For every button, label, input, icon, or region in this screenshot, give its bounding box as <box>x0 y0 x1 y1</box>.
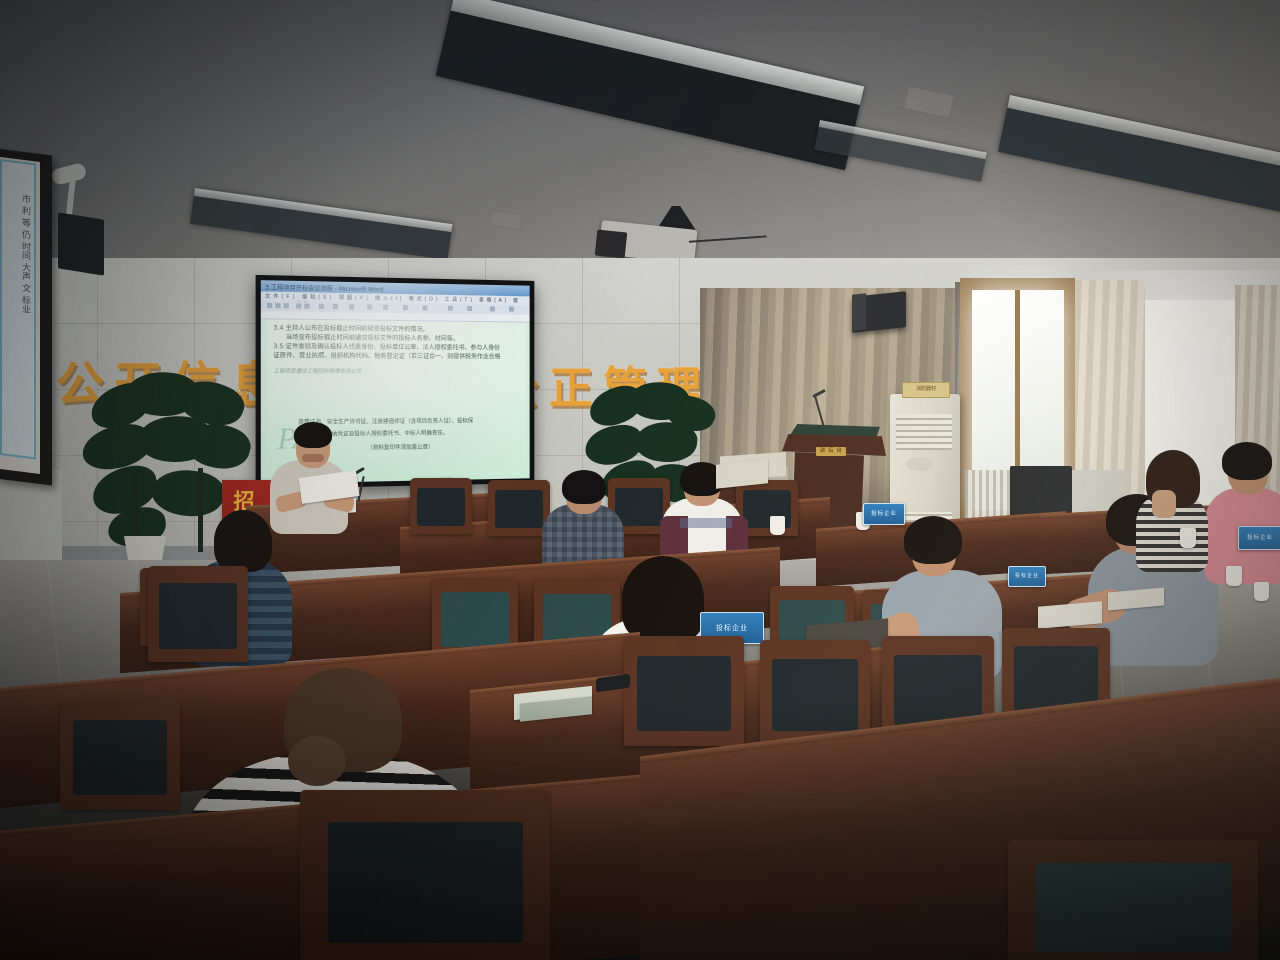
chair-foreground-1[interactable] <box>300 790 550 960</box>
ac-brand-emblem <box>906 457 934 471</box>
chair-front-1[interactable] <box>148 566 248 662</box>
framed-certificate: 市 利 等 仍 时间 大声 文 标业 <box>0 149 52 486</box>
ac-top-grille <box>896 414 952 450</box>
chair-foreground-2[interactable] <box>1008 840 1258 960</box>
meeting-room-photo: 公开信息 公正管理 市 利 等 仍 时间 大声 文 标业 3.工程项目开标会议流… <box>0 0 1280 960</box>
ac-top-sign: 消防器材 <box>902 382 950 398</box>
chair-back-2[interactable] <box>488 480 550 536</box>
projector-lens-icon <box>595 230 628 259</box>
namecard-right-1: 投标企业 <box>863 503 905 525</box>
wall-speaker-left <box>58 212 104 275</box>
teacup-4 <box>1226 566 1242 586</box>
teacup-3 <box>1180 528 1196 548</box>
chair-back-1[interactable] <box>410 478 472 534</box>
chair-front-2[interactable] <box>624 636 744 746</box>
teacup-5 <box>1254 582 1269 601</box>
teacup-1 <box>770 516 785 535</box>
podium-nameplate: 讲 坛 台 <box>816 447 846 456</box>
namecard-right-2: 投标企业 <box>1008 566 1046 587</box>
certificate-paper: 市 利 等 仍 时间 大声 文 标业 <box>0 159 36 459</box>
namecard-right-3: 投标企业 <box>1238 526 1280 550</box>
speaker-grille-icon <box>852 293 866 330</box>
chair-foreground-3[interactable] <box>60 700 180 810</box>
certificate-text: 市 利 等 仍 时间 大声 文 标业 <box>8 192 36 314</box>
striped-far-hand <box>1152 490 1176 518</box>
